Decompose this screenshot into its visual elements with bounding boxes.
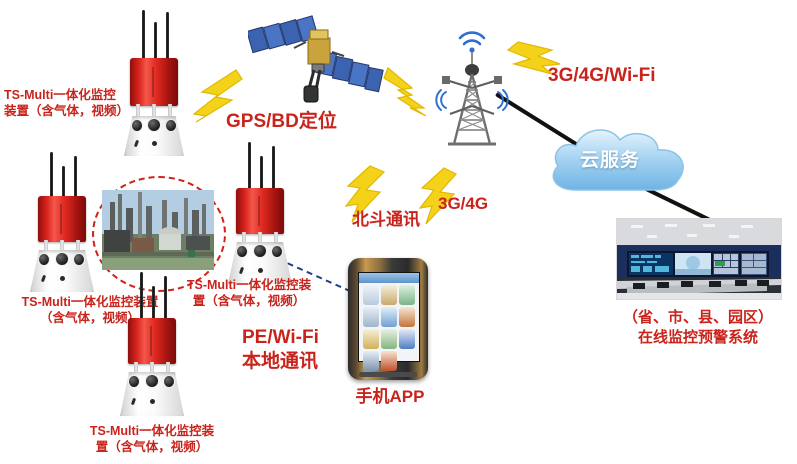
label-line-2: 在线监控预警系统 bbox=[600, 328, 796, 348]
sensor-port bbox=[166, 120, 176, 131]
device-head bbox=[236, 188, 284, 234]
label-phone-app: 手机APP bbox=[352, 386, 428, 407]
sensor-port bbox=[132, 120, 142, 131]
control-room-photo bbox=[616, 218, 782, 300]
pda-home-button[interactable] bbox=[359, 372, 417, 377]
pda-app-icon-empty bbox=[399, 351, 415, 371]
status-dot bbox=[258, 268, 263, 273]
sensor-port bbox=[164, 376, 174, 387]
ts-multi-device-bottom[interactable] bbox=[106, 272, 198, 424]
cloud-icon: 云服务 bbox=[540, 118, 700, 202]
industrial-plant-photo bbox=[102, 190, 214, 270]
device-head bbox=[128, 318, 176, 364]
diagram-canvas: 云服务 bbox=[0, 0, 797, 464]
label-3g4g-wifi: 3G/4G/Wi-Fi bbox=[548, 64, 656, 88]
sensor-port bbox=[39, 254, 49, 265]
pda-app-icon[interactable] bbox=[363, 285, 379, 305]
label-line-1: （省、市、县、园区） bbox=[600, 308, 796, 328]
pda-app-icon[interactable] bbox=[399, 329, 415, 349]
pda-app-icon[interactable] bbox=[399, 307, 415, 327]
cloud-label: 云服务 bbox=[580, 145, 640, 172]
pda-statusbar bbox=[359, 273, 419, 283]
satellite-icon bbox=[248, 8, 384, 104]
label-gps-bd: GPS/BD定位 bbox=[226, 110, 337, 134]
label-device-top-left: TS-Multi一体化监控 装置（含气体，视频） bbox=[4, 88, 154, 119]
label-beidou: 北斗通讯 bbox=[352, 209, 420, 230]
device-post bbox=[168, 104, 172, 118]
label-line-1: TS-Multi一体化监控装 bbox=[62, 424, 242, 440]
label-line-1: PE/Wi-Fi bbox=[242, 326, 319, 350]
label-3g4g: 3G/4G bbox=[438, 193, 488, 214]
device-head bbox=[38, 196, 86, 242]
ts-multi-device-mid-left[interactable] bbox=[16, 152, 108, 302]
status-dot bbox=[152, 141, 157, 146]
handheld-pda-device[interactable] bbox=[348, 258, 428, 380]
status-dot bbox=[150, 399, 155, 404]
sensor-port bbox=[148, 119, 160, 131]
sensor-port bbox=[254, 245, 266, 257]
pda-app-icon[interactable] bbox=[381, 307, 397, 327]
sensor-port bbox=[146, 375, 158, 387]
label-line-2: 本地通讯 bbox=[242, 350, 319, 374]
pda-screen[interactable] bbox=[358, 272, 420, 362]
cell-tower-icon bbox=[424, 18, 520, 150]
sensor-port bbox=[129, 376, 139, 387]
pda-app-icon[interactable] bbox=[381, 329, 397, 349]
ts-multi-device-mid-right[interactable] bbox=[214, 142, 306, 292]
label-monitoring-center: （省、市、县、园区） 在线监控预警系统 bbox=[600, 308, 796, 349]
sensor-port bbox=[237, 246, 247, 257]
sensor-port bbox=[74, 254, 84, 265]
pda-app-icon[interactable] bbox=[363, 329, 379, 349]
pda-app-icon[interactable] bbox=[381, 351, 397, 371]
label-pe-wifi: PE/Wi-Fi 本地通讯 bbox=[242, 326, 319, 374]
pda-app-grid[interactable] bbox=[363, 285, 415, 358]
label-line-2: 装置（含气体，视频） bbox=[4, 104, 154, 120]
status-dot bbox=[60, 276, 65, 281]
label-device-bottom: TS-Multi一体化监控装 置（含气体，视频） bbox=[62, 424, 242, 455]
pda-app-icon[interactable] bbox=[363, 307, 379, 327]
sensor-port bbox=[272, 246, 282, 257]
label-line-2: 置（含气体，视频） bbox=[62, 440, 242, 456]
sensor-port bbox=[56, 253, 68, 265]
pda-app-icon[interactable] bbox=[399, 285, 415, 305]
pda-app-icon[interactable] bbox=[381, 285, 397, 305]
label-line-1: TS-Multi一体化监控 bbox=[4, 88, 154, 104]
pda-app-icon[interactable] bbox=[363, 351, 379, 371]
